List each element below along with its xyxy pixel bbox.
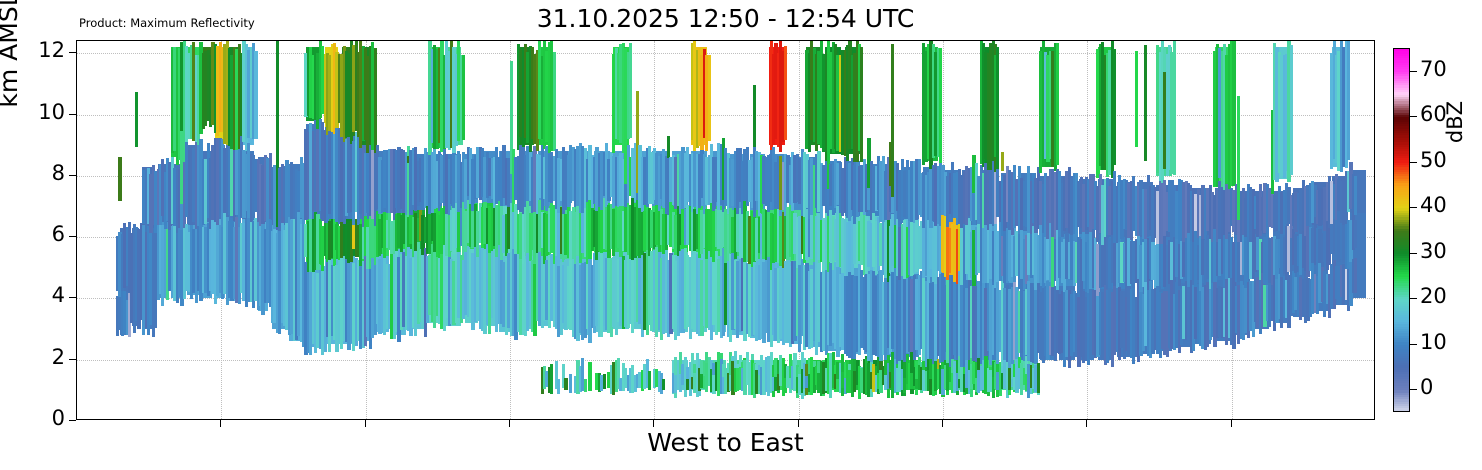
colorbar-tick-mark [1410,207,1417,208]
colorbar-tick-label: 20 [1420,284,1447,308]
x-tick-mark [365,420,366,427]
radar-cross-section-figure: Product: Maximum Reflectivity 31.10.2025… [0,0,1482,470]
y-tick-mark [69,114,76,115]
colorbar-tick-mark [1410,298,1417,299]
y-tick-mark [69,420,76,421]
y-tick-label: 2 [52,345,65,369]
colorbar-tick-mark [1410,344,1417,345]
x-tick-mark [1086,420,1087,427]
y-tick-label: 8 [52,161,65,185]
x-tick-mark [509,420,510,427]
plot-area [76,40,1375,420]
y-axis-label: km AMSL [0,0,23,150]
colorbar-tick-mark [1410,253,1417,254]
y-tick-label: 4 [52,283,65,307]
colorbar-tick-label: 10 [1420,330,1447,354]
colorbar-title: dBZ [1443,62,1467,182]
x-tick-mark [653,420,654,427]
y-tick-mark [69,297,76,298]
y-tick-mark [69,52,76,53]
y-tick-label: 10 [38,100,65,124]
colorbar-tick-mark [1410,162,1417,163]
colorbar-tick-mark [1410,116,1417,117]
reflectivity-cell [1354,176,1357,215]
colorbar-gradient [1393,48,1410,412]
x-axis-label: West to East [76,428,1375,457]
x-tick-mark [220,420,221,427]
x-tick-mark [942,420,943,427]
reflectivity-column [1354,41,1357,420]
colorbar-tick-mark [1410,71,1417,72]
x-tick-mark [1231,420,1232,427]
colorbar [1393,48,1410,412]
y-tick-mark [69,175,76,176]
y-tick-mark [69,236,76,237]
colorbar-tick-label: 0 [1420,375,1433,399]
y-tick-mark [69,359,76,360]
colorbar-tick-label: 40 [1420,193,1447,217]
colorbar-band [1394,411,1409,412]
reflectivity-cell [1354,220,1357,249]
y-tick-label: 12 [38,38,65,62]
colorbar-tick-mark [1410,389,1417,390]
reflectivity-cell [1354,258,1357,292]
page-title: 31.10.2025 12:50 - 12:54 UTC [76,4,1375,33]
colorbar-tick-label: 30 [1420,239,1447,263]
y-tick-label: 6 [52,222,65,246]
x-tick-mark [798,420,799,427]
y-tick-label: 0 [52,406,65,430]
